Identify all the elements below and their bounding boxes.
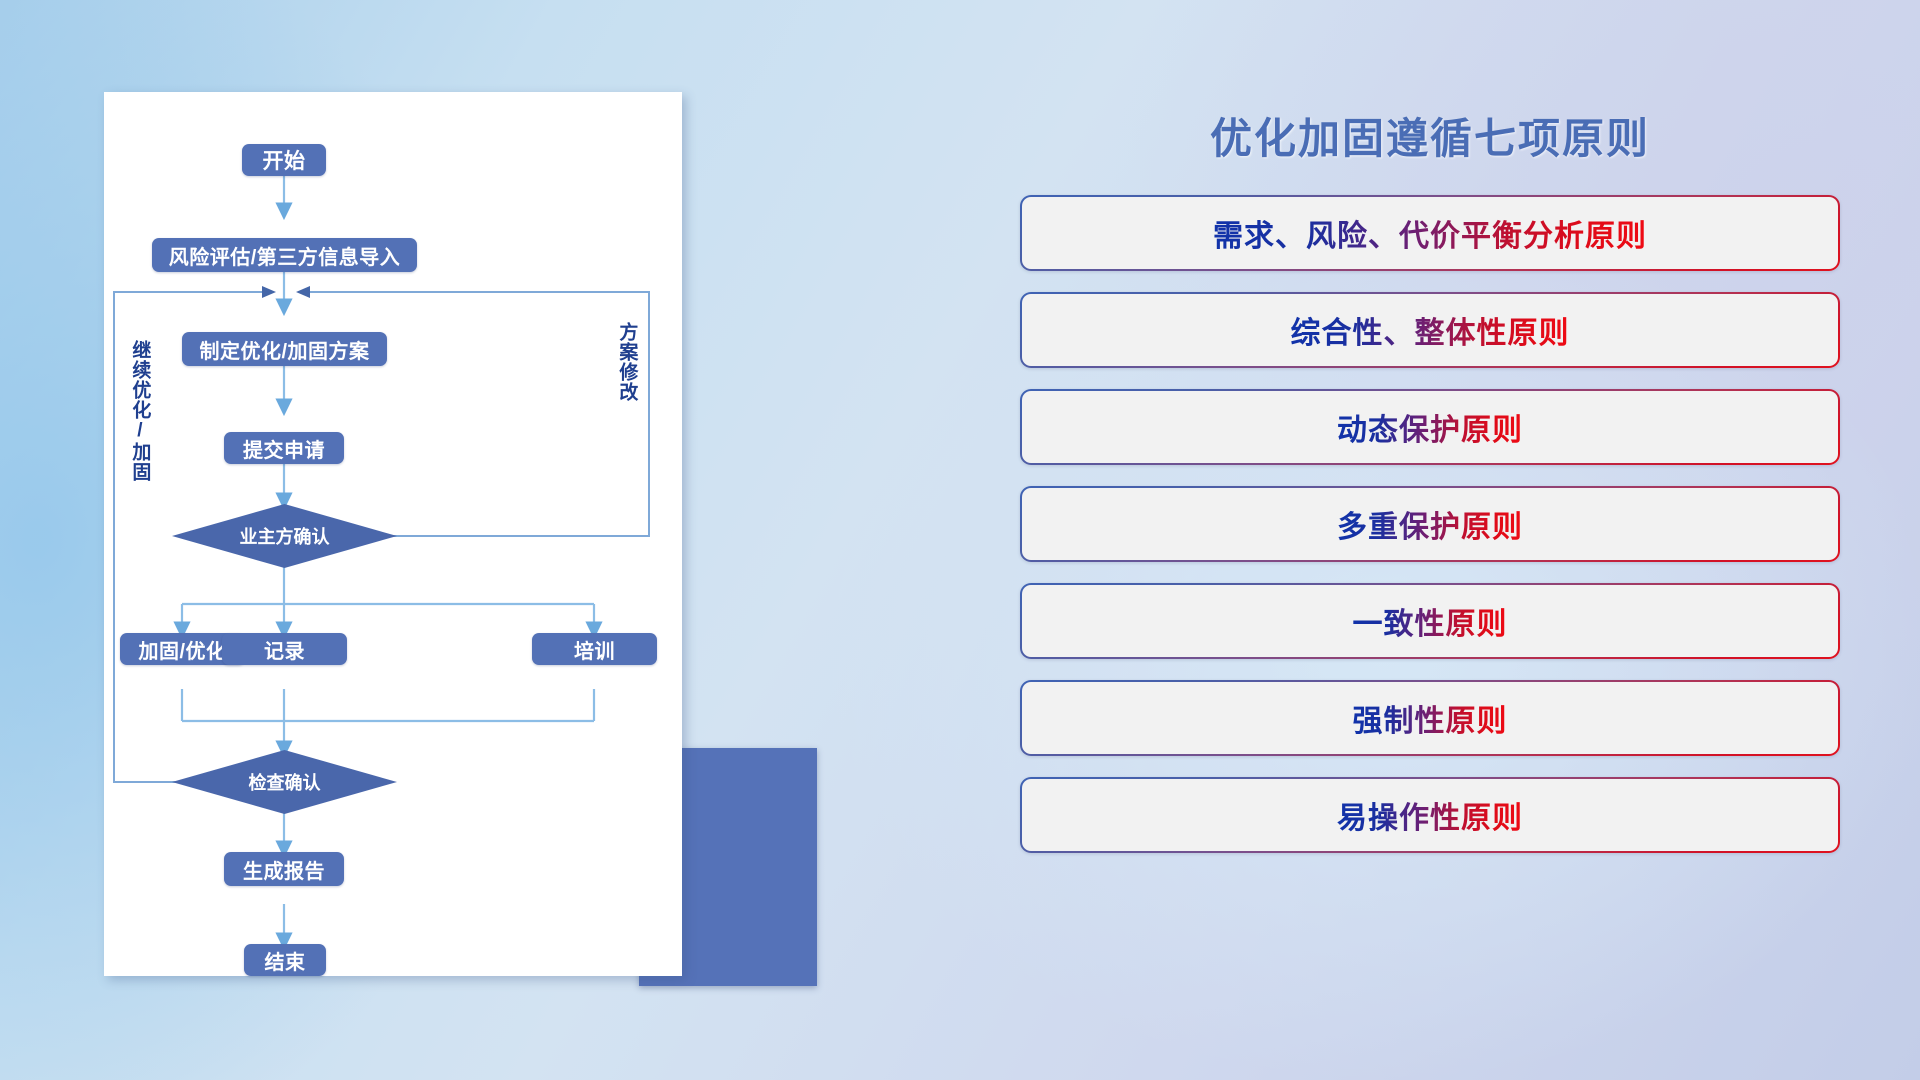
principle-card-body: 多重保护原则 [1022,488,1838,560]
flow-node-check-confirm-label: 检查确认 [172,750,397,814]
flow-node-end[interactable]: 结束 [244,944,326,976]
flow-edge-label-plan-revision: 方案修改 [617,322,636,402]
principle-card-body: 需求、风险、代价平衡分析原则 [1022,197,1838,269]
flow-node-generate-report[interactable]: 生成报告 [224,852,344,886]
flow-node-make-plan[interactable]: 制定优化/加固方案 [182,332,387,366]
flow-node-submit-application[interactable]: 提交申请 [224,432,344,464]
slide-root: 开始 风险评估/第三方信息导入 制定优化/加固方案 提交申请 业主方确认 加固/… [0,0,1920,1080]
principle-label: 强制性原则 [1353,696,1508,740]
principle-card-body: 动态保护原则 [1022,391,1838,463]
flow-node-record[interactable]: 记录 [222,633,347,665]
flowchart-canvas: 开始 风险评估/第三方信息导入 制定优化/加固方案 提交申请 业主方确认 加固/… [104,92,682,976]
principle-card-7[interactable]: 易操作性原则 [1020,777,1840,853]
flow-node-owner-confirm-label: 业主方确认 [172,504,397,568]
principle-card-body: 一致性原则 [1022,585,1838,657]
principle-label: 综合性、整体性原则 [1291,308,1570,352]
flow-edge-label-continue-optimize: 继续优化/加固 [130,340,149,482]
principle-card-6[interactable]: 强制性原则 [1020,680,1840,756]
principle-label: 一致性原则 [1353,599,1508,643]
principle-card-body: 综合性、整体性原则 [1022,294,1838,366]
flow-node-start[interactable]: 开始 [242,144,326,176]
page-title: 优化加固遵循七项原则 [1020,96,1840,170]
principle-card-4[interactable]: 多重保护原则 [1020,486,1840,562]
principles-panel: 优化加固遵循七项原则 需求、风险、代价平衡分析原则 综合性、整体性原则 动态保护… [1020,96,1840,1000]
principle-card-body: 易操作性原则 [1022,779,1838,851]
principle-card-1[interactable]: 需求、风险、代价平衡分析原则 [1020,195,1840,271]
flowchart-card: 开始 风险评估/第三方信息导入 制定优化/加固方案 提交申请 业主方确认 加固/… [104,92,682,976]
flow-node-risk-assessment[interactable]: 风险评估/第三方信息导入 [152,238,417,272]
flow-node-check-confirm[interactable]: 检查确认 [172,750,397,814]
flow-node-training[interactable]: 培训 [532,633,657,665]
principle-card-5[interactable]: 一致性原则 [1020,583,1840,659]
principle-label: 动态保护原则 [1337,405,1523,449]
principles-list: 需求、风险、代价平衡分析原则 综合性、整体性原则 动态保护原则 多重保护原则 [1020,195,1840,853]
principle-card-2[interactable]: 综合性、整体性原则 [1020,292,1840,368]
principle-label: 多重保护原则 [1337,502,1523,546]
flow-node-owner-confirm[interactable]: 业主方确认 [172,504,397,568]
principle-label: 易操作性原则 [1337,793,1523,837]
principle-card-body: 强制性原则 [1022,682,1838,754]
principle-label: 需求、风险、代价平衡分析原则 [1213,211,1647,255]
principle-card-3[interactable]: 动态保护原则 [1020,389,1840,465]
